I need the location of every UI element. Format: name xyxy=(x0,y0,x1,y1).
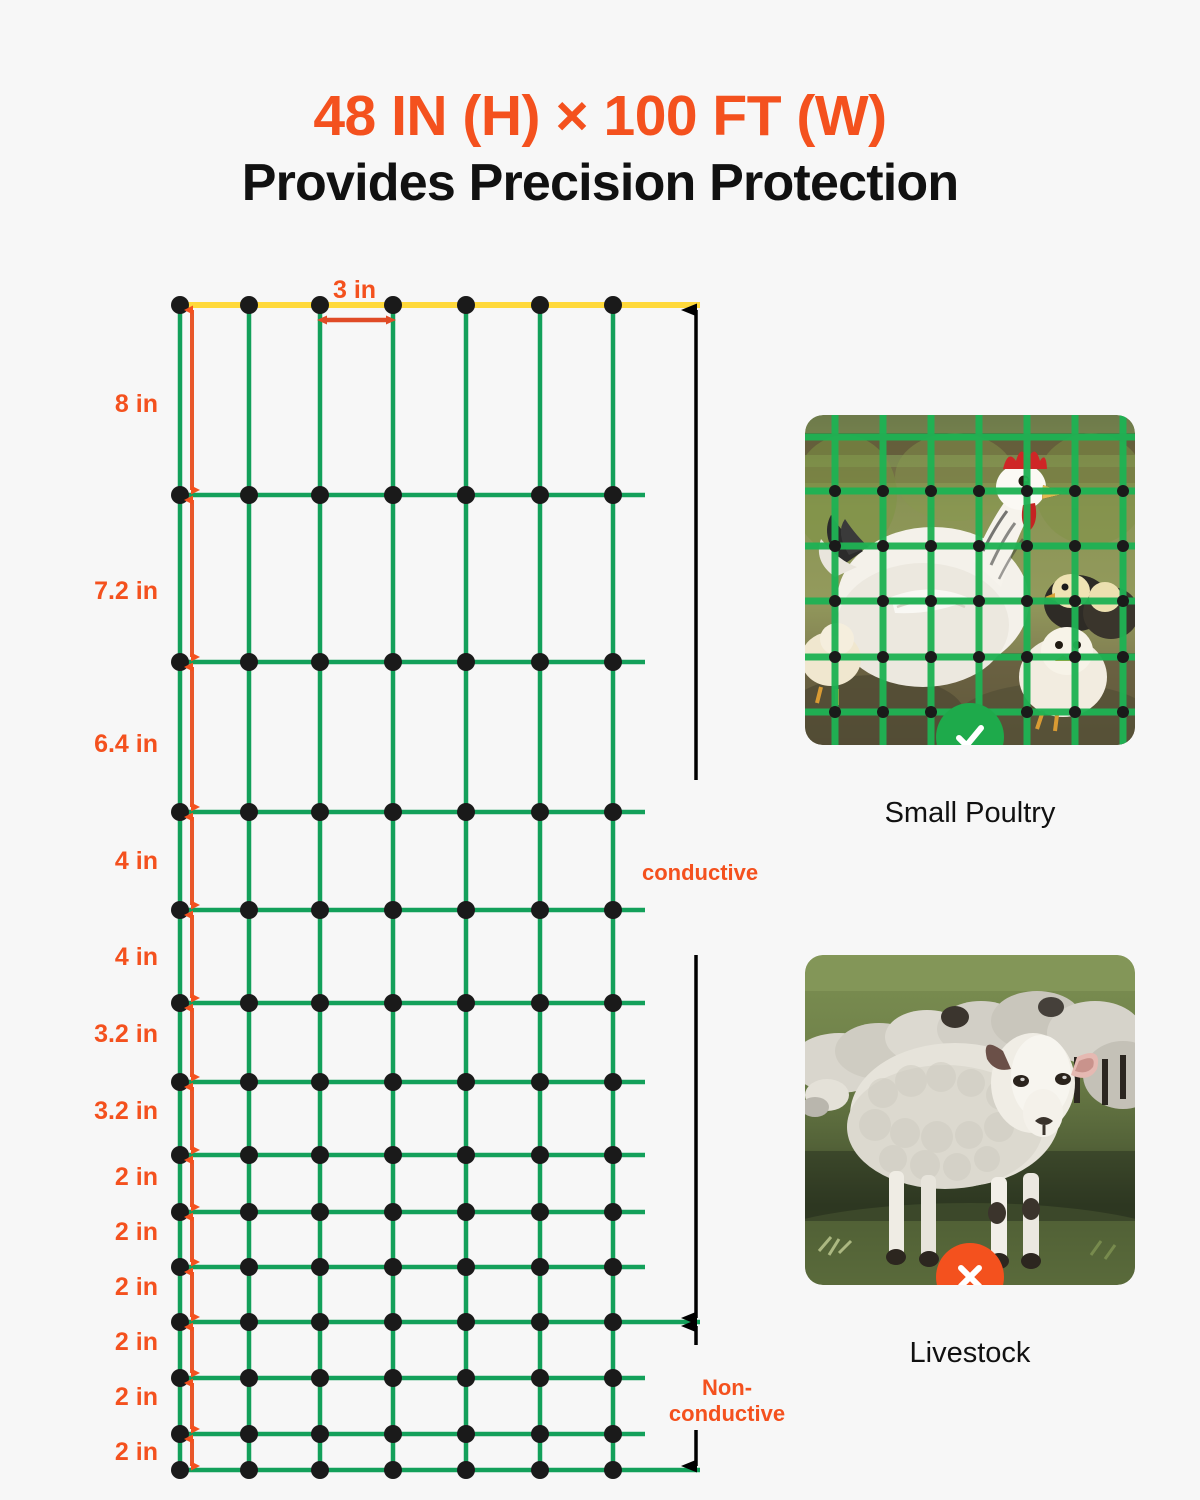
conductive-label: conductive xyxy=(642,860,758,886)
livestock-photo-svg xyxy=(805,955,1135,1285)
card-caption-livestock: Livestock xyxy=(805,1337,1135,1370)
card-livestock: Livestock xyxy=(805,955,1135,1370)
row-label-11: 2 in xyxy=(48,1328,158,1357)
nonconductive-label: Non-conductive xyxy=(667,1375,787,1427)
mesh-horizontal-strands xyxy=(180,495,700,1470)
row-label-3: 6.4 in xyxy=(48,730,158,759)
row-label-2: 7.2 in xyxy=(48,577,158,606)
row-label-7: 3.2 in xyxy=(48,1097,158,1126)
horizontal-spacing-label: 3 in xyxy=(333,276,376,305)
card-small-poultry: Small Poultry xyxy=(805,415,1135,830)
card-caption-poultry: Small Poultry xyxy=(805,797,1135,830)
row-label-5: 4 in xyxy=(48,943,158,972)
row-label-9: 2 in xyxy=(48,1218,158,1247)
checkmark-icon xyxy=(950,717,990,745)
fence-mesh-diagram: 8 in 7.2 in 6.4 in 4 in 4 in 3.2 in 3.2 … xyxy=(0,0,780,1500)
poultry-photo xyxy=(805,415,1135,745)
row-label-13: 2 in xyxy=(48,1438,158,1467)
row-label-4: 4 in xyxy=(48,847,158,876)
row-label-6: 3.2 in xyxy=(48,1020,158,1049)
row-label-12: 2 in xyxy=(48,1383,158,1412)
cross-icon xyxy=(950,1257,990,1285)
mesh-vertical-strands xyxy=(180,305,613,1470)
poultry-photo-svg xyxy=(805,415,1135,745)
row-label-1: 8 in xyxy=(48,390,158,419)
row-label-8: 2 in xyxy=(48,1163,158,1192)
row-label-10: 2 in xyxy=(48,1273,158,1302)
livestock-photo xyxy=(805,955,1135,1285)
mesh-junction-nodes xyxy=(171,296,622,1479)
